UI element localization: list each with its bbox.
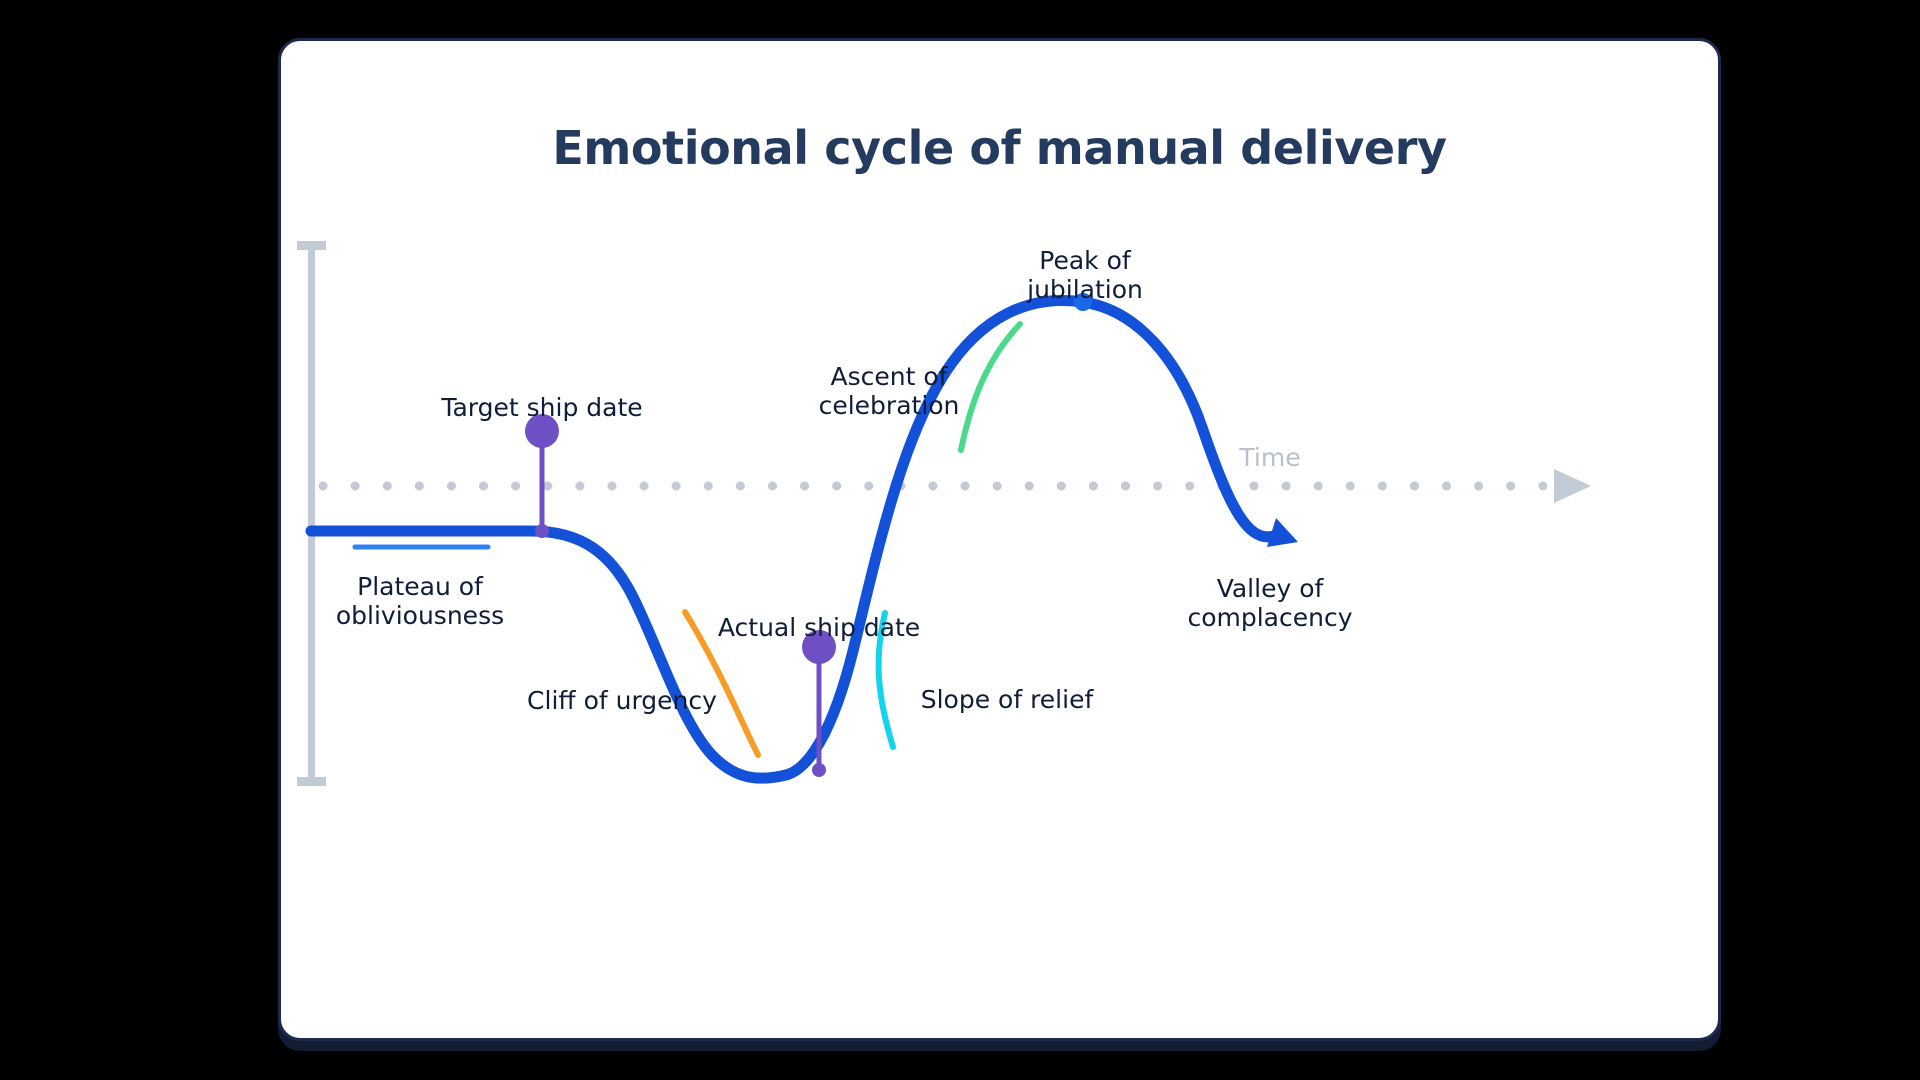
label-valley-of-complacency: Valley ofcomplacency	[1187, 575, 1352, 633]
chart-plot-area	[281, 41, 1718, 1038]
label-ascent-line1: Ascent of	[831, 362, 948, 391]
label-actual-ship-date: Actual ship date	[718, 614, 920, 643]
label-target-ship-date: Target ship date	[441, 394, 642, 423]
label-plateau-of-obliviousness: Plateau ofobliviousness	[336, 573, 504, 631]
chart-card: Emotional cycle of manual delivery	[278, 38, 1721, 1041]
label-plateau-line1: Plateau of	[357, 572, 483, 601]
label-peak-of-jubilation: Peak ofjubilation	[1027, 247, 1143, 305]
y-axis	[297, 241, 326, 786]
x-axis-arrow-icon	[1554, 469, 1591, 503]
screenshot-root: Emotional cycle of manual delivery	[0, 0, 1920, 1080]
marker-target-ship-date[interactable]	[525, 414, 559, 538]
label-valley-line1: Valley of	[1217, 574, 1324, 603]
label-ascent-line2: celebration	[819, 391, 960, 420]
label-cliff-of-urgency: Cliff of urgency	[527, 687, 717, 716]
label-time-axis: Time	[1239, 444, 1300, 473]
label-peak-line1: Peak of	[1039, 246, 1130, 275]
emotional-curve	[311, 300, 1298, 778]
label-valley-line2: complacency	[1187, 603, 1352, 632]
label-slope-of-relief: Slope of relief	[921, 686, 1094, 715]
label-ascent-of-celebration: Ascent ofcelebration	[819, 363, 960, 421]
label-plateau-line2: obliviousness	[336, 601, 504, 630]
label-peak-line2: jubilation	[1027, 275, 1143, 304]
